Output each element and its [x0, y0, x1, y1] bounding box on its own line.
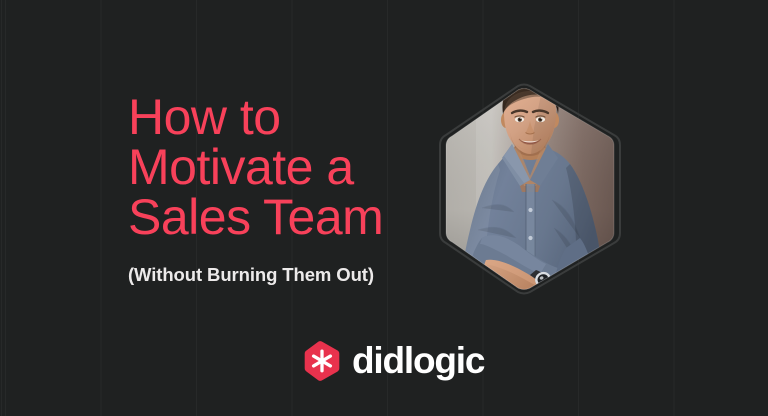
didlogic-logo[interactable]: didlogic	[303, 340, 484, 382]
promo-banner: How to Motivate a Sales Team (Without Bu…	[0, 0, 768, 416]
didlogic-hexagon-asterisk-icon	[303, 340, 341, 382]
didlogic-wordmark: didlogic	[352, 341, 484, 381]
portrait-hexagon	[436, 82, 624, 296]
title-line-2: Motivate a	[128, 142, 448, 192]
title-line-1: How to	[128, 92, 448, 142]
portrait-photo	[442, 88, 618, 290]
headline-block: How to Motivate a Sales Team (Without Bu…	[128, 92, 448, 286]
subtitle: (Without Burning Them Out)	[128, 264, 448, 286]
title-line-3: Sales Team	[128, 192, 448, 242]
